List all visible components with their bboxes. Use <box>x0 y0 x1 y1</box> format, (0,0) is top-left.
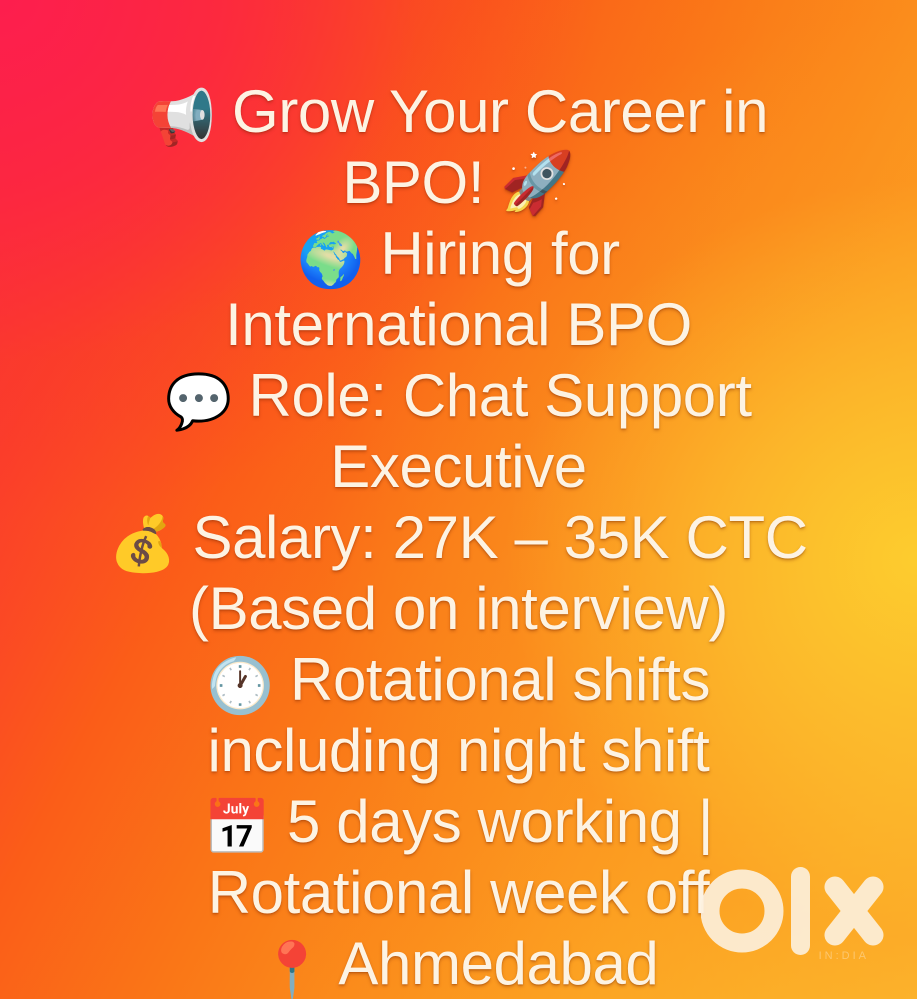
ad-line: International BPO <box>26 289 891 360</box>
clock-icon: 🕐 <box>207 659 274 713</box>
calendar-icon: 📅 <box>204 801 271 855</box>
ad-line-text: Rotational week off <box>208 859 710 926</box>
ad-line-text: BPO! 🚀 <box>342 149 574 216</box>
ad-line: 🌍 Hiring for <box>26 218 891 289</box>
ad-line-text: Salary: 27K – 35K CTC <box>192 504 807 571</box>
globe-icon: 🌍 <box>297 233 364 287</box>
ad-line: (Based on interview) <box>26 573 891 644</box>
olx-watermark-sublabel: IN:DIA <box>819 950 869 962</box>
speech-balloon-icon: 💬 <box>165 375 232 429</box>
ad-line: 📢 Grow Your Career in <box>26 76 891 147</box>
ad-line: 💬 Role: Chat Support <box>26 360 891 431</box>
ad-line: including night shift <box>26 715 891 786</box>
ad-line-text: Rotational shifts <box>290 646 710 713</box>
ad-line-text: Grow Your Career in <box>232 78 768 145</box>
money-bag-icon: 💰 <box>109 517 176 571</box>
megaphone-icon: 📢 <box>149 91 216 145</box>
ad-line-text: 5 days working | <box>287 788 713 855</box>
ad-line-text: Hiring for <box>380 220 619 287</box>
ad-line-text: (Based on interview) <box>189 575 728 642</box>
ad-line: 📅 5 days working | <box>26 786 891 857</box>
ad-line-text: Ahmedabad <box>338 930 658 997</box>
ad-line: BPO! 🚀 <box>26 147 891 218</box>
ad-line-text: including night shift <box>208 717 710 784</box>
ad-line: Executive <box>26 431 891 502</box>
ad-line: 💰 Salary: 27K – 35K CTC <box>26 502 891 573</box>
job-ad-poster: 📢 Grow Your Career inBPO! 🚀🌍 Hiring forI… <box>0 0 917 999</box>
ad-line-text: Executive <box>330 433 587 500</box>
ad-line-text: International BPO <box>225 291 692 358</box>
round-pushpin-icon: 📍 <box>259 943 326 997</box>
ad-line-text: Role: Chat Support <box>249 362 752 429</box>
ad-line: 🕐 Rotational shifts <box>26 644 891 715</box>
